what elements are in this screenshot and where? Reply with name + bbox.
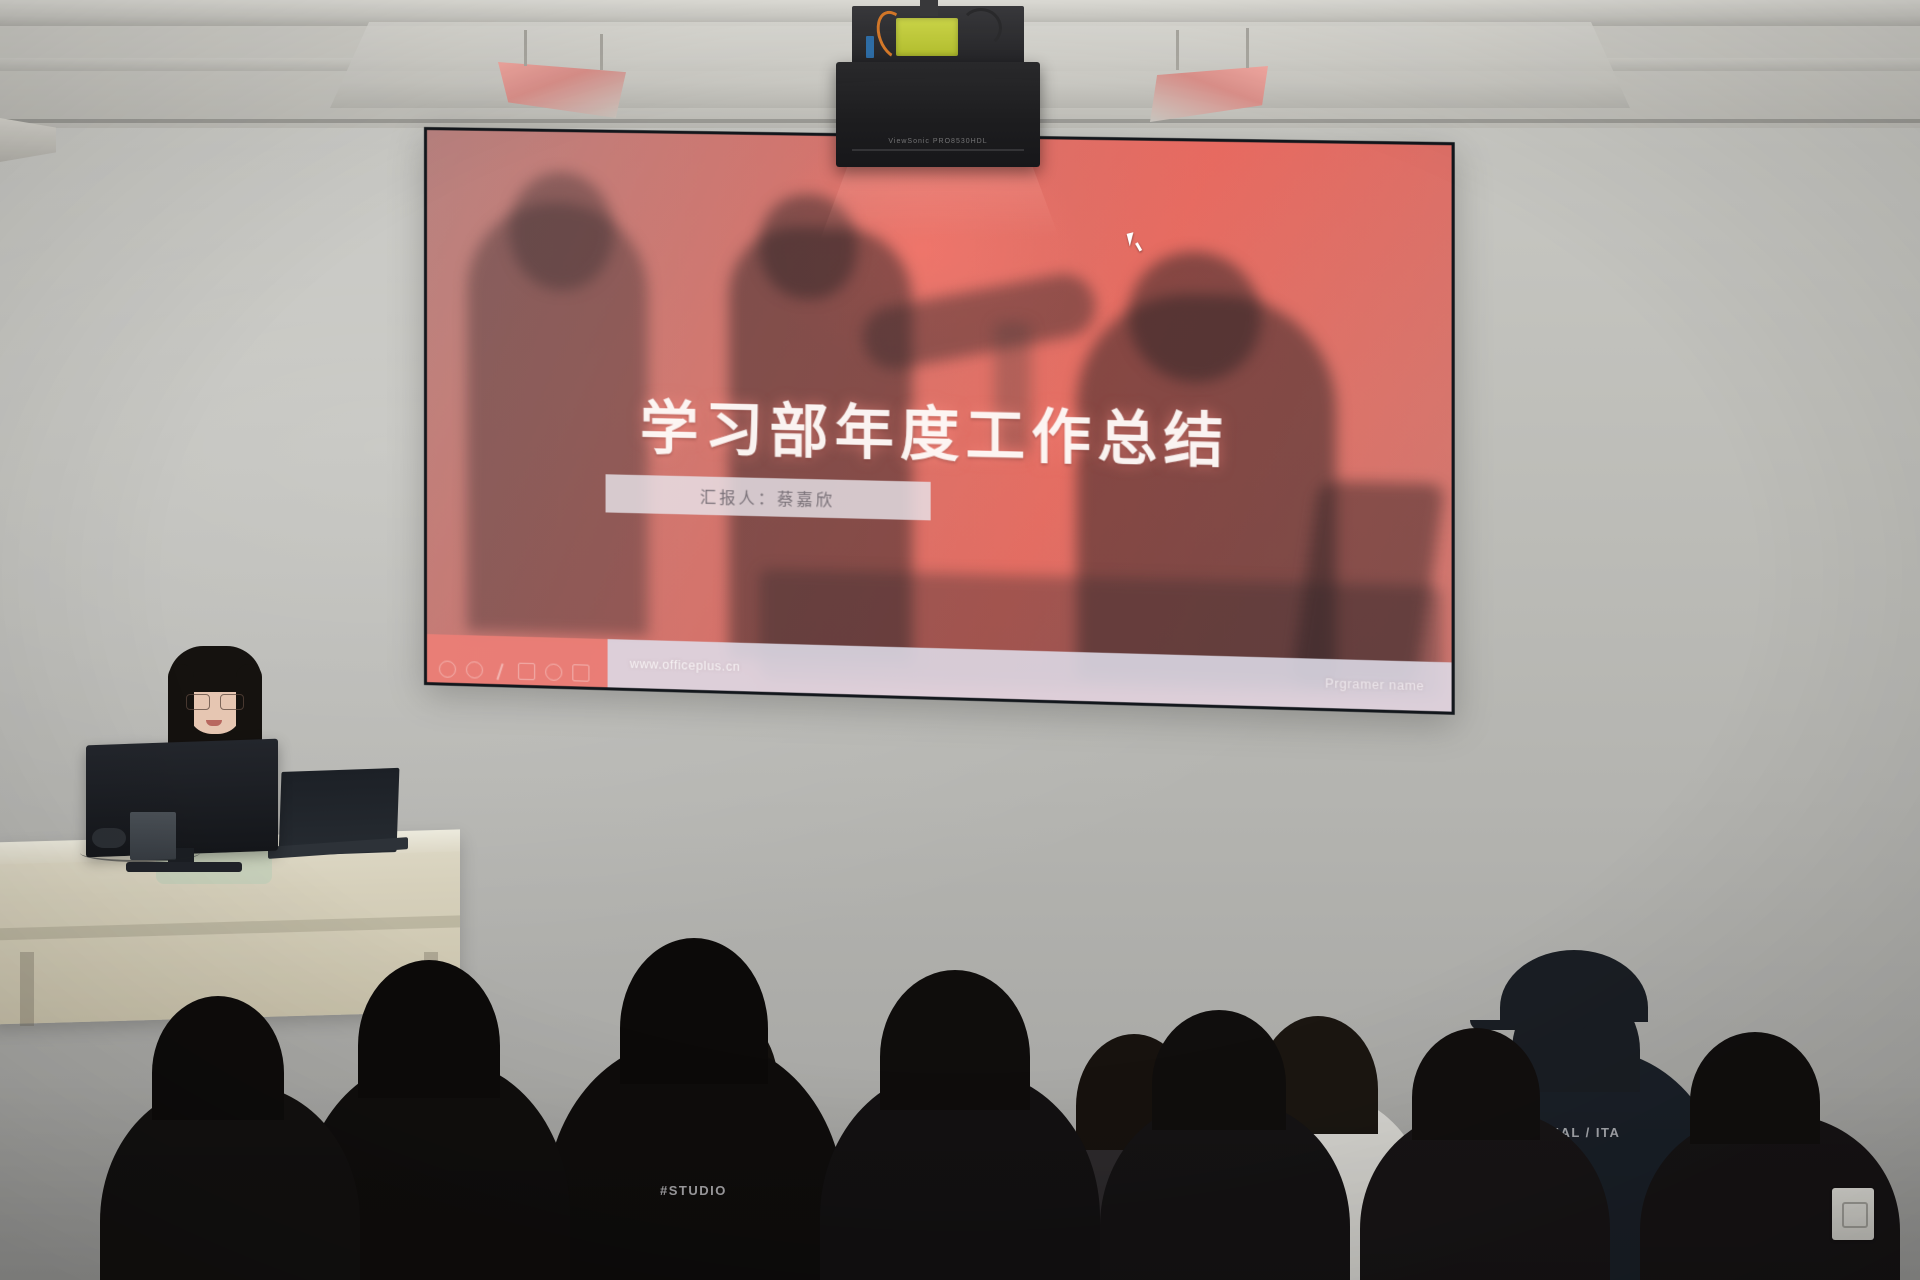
- jacket-text-left: #STUDIO: [660, 1183, 727, 1198]
- droplet-icon: [466, 661, 483, 679]
- light-rod-right-2: [1246, 28, 1249, 68]
- slide-footer-url: www.officeplus.cn: [630, 657, 741, 674]
- classroom-scene: 学习部年度工作总结 汇报人：蔡嘉欣 www.officeplus.cn Prgr…: [0, 0, 1920, 1280]
- slash-icon: [493, 664, 508, 679]
- slide-footer-presenter-name: Prgramer name: [1325, 676, 1424, 693]
- audience-head: [880, 970, 1030, 1110]
- slide-photo-silhouette-b-head: [759, 193, 857, 300]
- projector-brand-label: ViewSonic PRO8530HDL: [888, 138, 987, 145]
- audience-head: [358, 960, 500, 1098]
- dots-icon: [572, 664, 589, 682]
- desk-cable: [80, 844, 200, 862]
- projector-blue-connector: [866, 36, 874, 58]
- light-rod-left-2: [600, 34, 603, 70]
- seated-audience: ANARCHIAL / ITA #STUDIO: [0, 920, 1920, 1280]
- ceiling-projector[interactable]: ViewSonic PRO8530HDL: [836, 62, 1040, 167]
- audience-head: [152, 996, 284, 1120]
- monitor-base: [126, 862, 242, 872]
- slide-subtitle: 汇报人：蔡嘉欣: [700, 484, 835, 511]
- audience-head: [620, 938, 768, 1084]
- circle-icon: [439, 660, 456, 677]
- projector-ceiling-mount: [920, 0, 938, 16]
- audience-head: [1152, 1010, 1286, 1130]
- projection-screen[interactable]: 学习部年度工作总结 汇报人：蔡嘉欣 www.officeplus.cn Prgr…: [424, 127, 1455, 715]
- sparkle-icon: [518, 663, 535, 681]
- projector-black-cable: [960, 8, 1002, 48]
- target-icon: [545, 663, 562, 681]
- slide-subtitle-bar: 汇报人：蔡嘉欣: [606, 474, 931, 520]
- slide-footer-icon-strip: [427, 634, 608, 687]
- audience-head: [1690, 1032, 1820, 1144]
- presenter-glasses-icon: [186, 694, 244, 709]
- light-rod-left: [524, 30, 527, 66]
- light-rod-right: [1176, 30, 1179, 70]
- presentation-slide[interactable]: 学习部年度工作总结 汇报人：蔡嘉欣 www.officeplus.cn Prgr…: [427, 130, 1452, 712]
- cap-icon: [1500, 950, 1648, 1022]
- slide-photo-silhouette-a-head: [509, 171, 614, 291]
- power-outlet-icon: [1832, 1188, 1874, 1240]
